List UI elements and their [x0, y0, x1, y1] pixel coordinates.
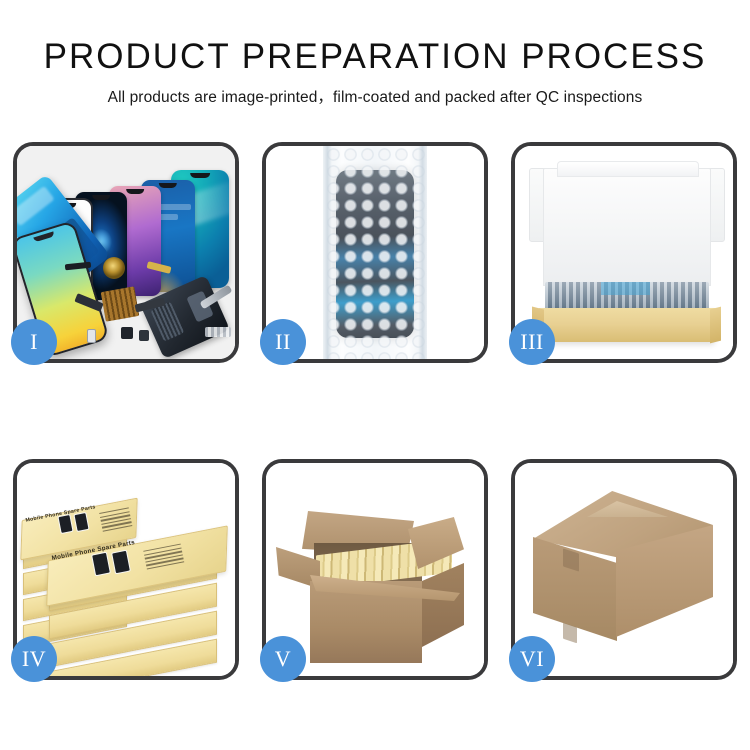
sealed-carton-tab-lower — [563, 623, 577, 644]
sim-tray-icon — [87, 329, 96, 343]
bag-seam-right — [418, 146, 427, 359]
process-step-panel-1[interactable]: I — [13, 142, 239, 363]
page-title: PRODUCT PREPARATION PROCESS — [0, 36, 750, 78]
step-badge-2: II — [260, 319, 306, 365]
mailer-lid-icon — [543, 168, 711, 286]
step-badge-5: V — [260, 636, 306, 682]
step-badge-4: IV — [11, 636, 57, 682]
carton-side-face — [422, 563, 464, 647]
speaker-coil-icon — [103, 257, 125, 279]
process-step-panel-2[interactable]: II — [262, 142, 488, 363]
process-step-panel-3[interactable]: III — [511, 142, 737, 363]
carton-flap-right — [408, 517, 464, 569]
small-part-2-icon — [139, 330, 149, 341]
process-step-panel-6[interactable]: VI — [511, 459, 737, 680]
bag-seam-left — [323, 146, 332, 359]
process-step-grid: I II III — [13, 142, 737, 680]
process-step-panel-4[interactable]: Mobile Phone Spare Parts Mobile Phone Sp… — [13, 459, 239, 680]
step-badge-1: I — [11, 319, 57, 365]
bubble-bag-icon — [323, 146, 427, 359]
step-badge-6: VI — [509, 636, 555, 682]
mailer-flap-right — [709, 168, 725, 242]
mailer-base-icon — [539, 308, 715, 342]
page-header: PRODUCT PREPARATION PROCESS All products… — [0, 0, 750, 109]
bubble-texture-icon — [325, 146, 425, 359]
screws-icon — [205, 327, 231, 337]
page-subtitle: All products are image-printed，film-coat… — [0, 87, 750, 109]
sealed-carton-tape-icon — [535, 501, 713, 517]
chip-grid-icon — [101, 286, 140, 321]
small-part-1-icon — [121, 327, 133, 339]
process-step-panel-5[interactable]: V — [262, 459, 488, 680]
step-badge-3: III — [509, 319, 555, 365]
